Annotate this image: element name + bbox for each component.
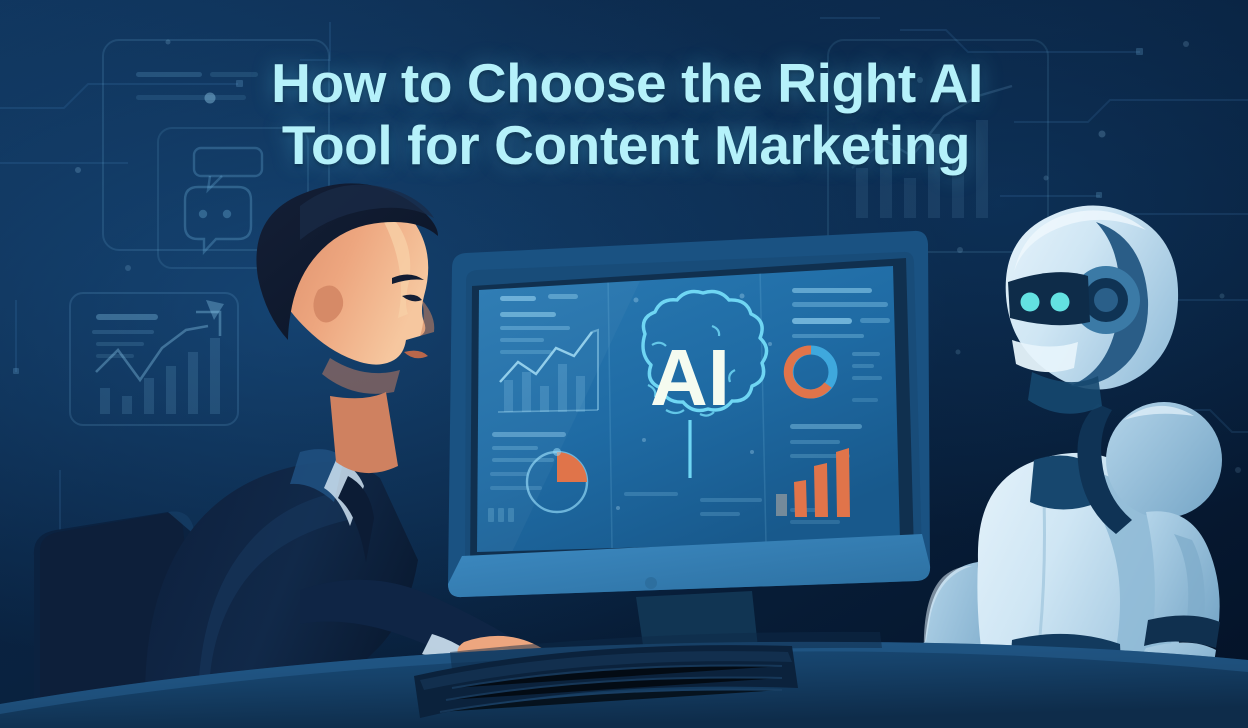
illustration-canvas: AI: [0, 0, 1248, 728]
desk-and-keyboard: [0, 0, 1248, 728]
